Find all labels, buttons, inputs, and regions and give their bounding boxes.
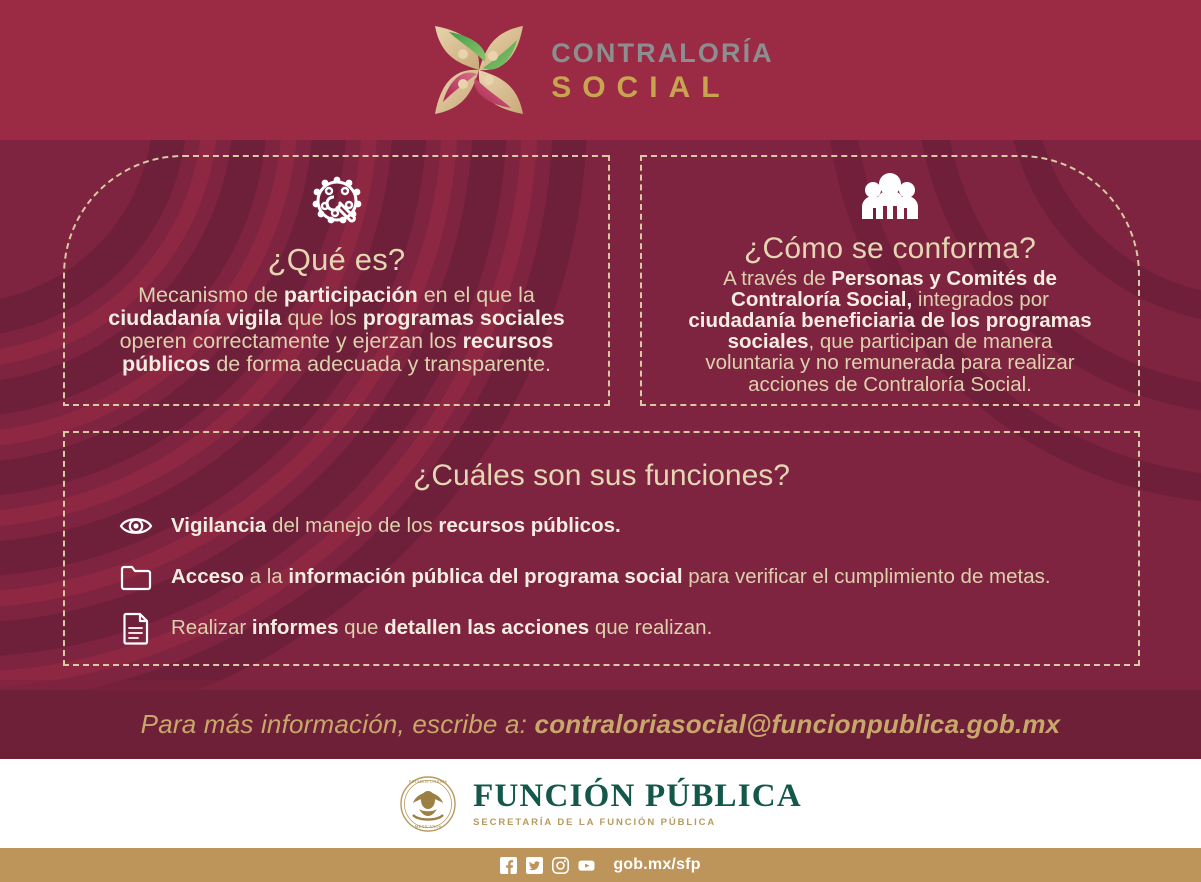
infographic-poster: CONTRALORÍA SOCIAL <box>0 0 1201 882</box>
list-item-text: Vigilancia del manejo de los recursos pú… <box>171 515 621 538</box>
svg-text:ESTADOS UNIDOS: ESTADOS UNIDOS <box>409 779 447 784</box>
funcion-publica-wordmark: FUNCIÓN PÚBLICA SECRETARÍA DE LA FUNCIÓN… <box>473 780 802 828</box>
list-item: Realizar informes que detallen las accio… <box>119 611 1108 645</box>
wordmark-contraloria: CONTRALORÍA <box>551 40 774 67</box>
contact-email[interactable]: contraloriasocial@funcionpublica.gob.mx <box>535 709 1061 739</box>
folder-icon <box>119 560 153 594</box>
mexican-coat-of-arms-icon: ESTADOS UNIDOS MEXICANOS <box>399 775 457 833</box>
people-group-icon <box>660 171 1120 230</box>
instagram-icon[interactable] <box>552 857 569 874</box>
header-band: CONTRALORÍA SOCIAL <box>0 0 1201 140</box>
eye-icon <box>119 509 153 543</box>
funciones-list: Vigilancia del manejo de los recursos pú… <box>95 509 1108 645</box>
contact-prefix: Para más información, escribe a: <box>141 709 535 739</box>
card-body-como-se-conforma: A través de Personas y Comités deContral… <box>660 268 1120 395</box>
gear-wrench-icon <box>87 175 586 236</box>
svg-text:MEXICANOS: MEXICANOS <box>415 824 441 829</box>
contact-line: Para más información, escribe a: contral… <box>141 709 1061 740</box>
card-title-funciones: ¿Cuáles son sus funciones? <box>95 459 1108 493</box>
document-icon <box>119 611 153 645</box>
list-item-text: Acceso a la información pública del prog… <box>171 566 1051 589</box>
card-que-es: ¿Qué es? Mecanismo de participación en e… <box>63 155 610 406</box>
contact-band: Para más información, escribe a: contral… <box>0 690 1201 759</box>
funcion-publica-title: FUNCIÓN PÚBLICA <box>473 780 802 813</box>
list-item-text: Realizar informes que detallen las accio… <box>171 617 712 640</box>
card-body-que-es: Mecanismo de participación en el que lac… <box>87 284 586 376</box>
funcion-publica-subtitle: SECRETARÍA DE LA FUNCIÓN PÚBLICA <box>473 818 802 828</box>
funcion-publica-band: ESTADOS UNIDOS MEXICANOS FUNCIÓN PÚBLICA… <box>0 759 1201 848</box>
card-como-se-conforma: ¿Cómo se conforma? A través de Personas … <box>640 155 1140 406</box>
contraloria-social-logo <box>427 18 531 122</box>
card-title-que-es: ¿Qué es? <box>87 242 586 278</box>
facebook-icon[interactable] <box>500 857 517 874</box>
list-item: Acceso a la información pública del prog… <box>119 560 1108 594</box>
youtube-icon[interactable] <box>578 857 595 874</box>
card-title-como-se-conforma: ¿Cómo se conforma? <box>660 232 1120 266</box>
twitter-icon[interactable] <box>526 857 543 874</box>
header-wordmark: CONTRALORÍA SOCIAL <box>551 38 774 103</box>
footer-bar: gob.mx/sfp <box>0 848 1201 882</box>
gob-mx-url[interactable]: gob.mx/sfp <box>613 856 700 874</box>
list-item: Vigilancia del manejo de los recursos pú… <box>119 509 1108 543</box>
card-funciones: ¿Cuáles son sus funciones? Vigilancia de… <box>63 431 1140 666</box>
wordmark-social: SOCIAL <box>551 73 774 103</box>
